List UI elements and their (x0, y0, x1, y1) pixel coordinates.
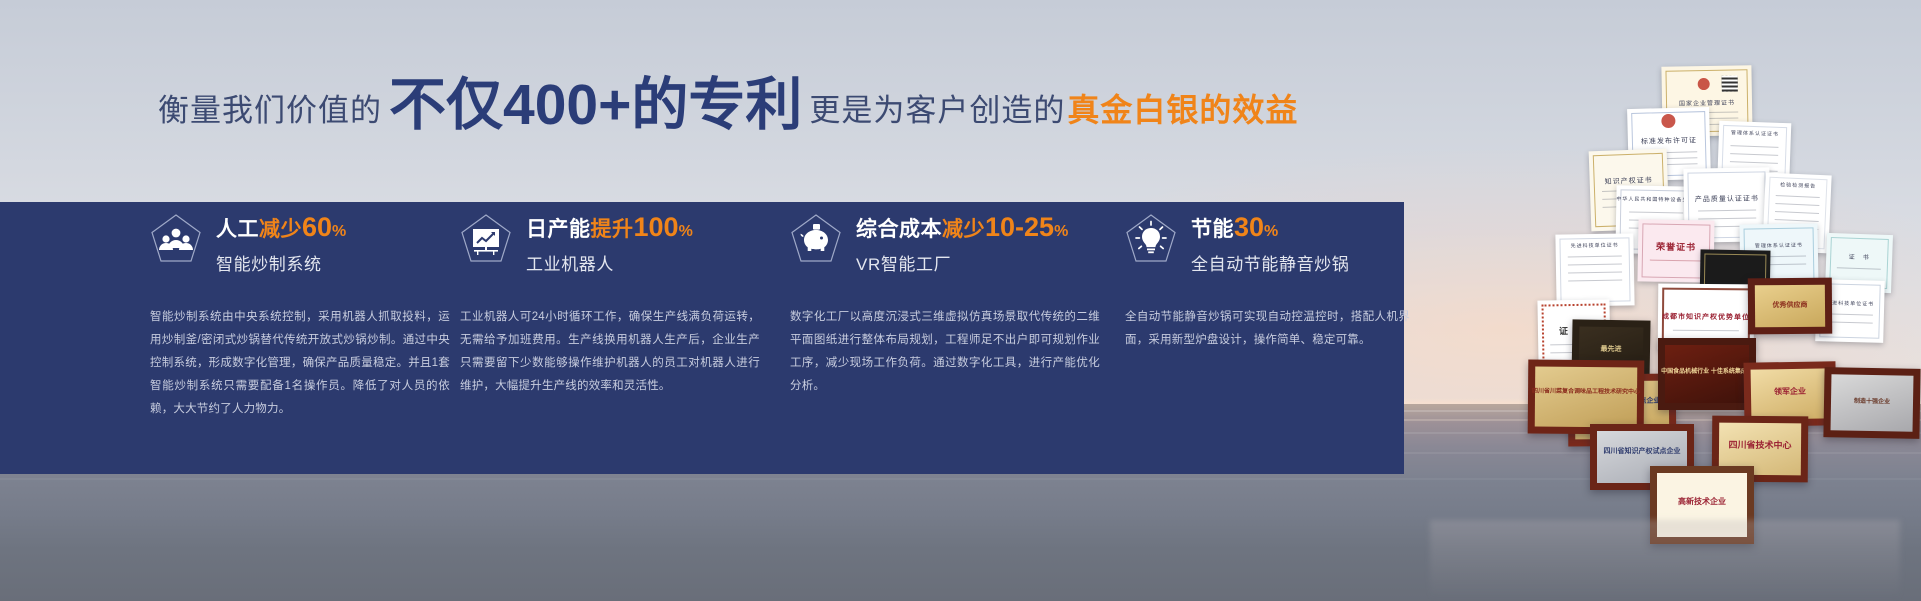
feature-title-accent: 减少 (259, 218, 302, 241)
feature-title-label: 节能 (1191, 218, 1234, 241)
feature-title-label: 日产能 (526, 218, 591, 241)
award-plaque-title: 四川省川菜复合调味品工程技术研究中心 (1528, 385, 1644, 395)
award-plaque: 优秀供应商 (1748, 278, 1832, 335)
headline-highlight: 真金白银的效益 (1067, 85, 1298, 131)
feature-title: 人工减少60% (216, 212, 346, 243)
award-plaque-title: 中国食品机械行业 十佳系统集成商 (1658, 366, 1756, 375)
award-plaque-title: 四川省技术中心 (1712, 438, 1808, 452)
feature-title-label: 人工 (216, 218, 259, 241)
certificate-title: 成都市知识产权优势单位 (1658, 312, 1754, 323)
feature-number: 100 (634, 212, 679, 242)
piggy-bank-icon (790, 213, 842, 265)
feature-subtitle: 工业机器人 (526, 250, 693, 275)
chart-board-icon (460, 213, 512, 265)
feature-subtitle: 智能炒制系统 (216, 250, 346, 275)
feature-percent: % (332, 223, 346, 240)
headline-middle: 更是为客户创造的 (809, 85, 1065, 130)
feature-body-text: 数字化工厂以高度沉浸式三维虚拟仿真场景取代传统的二维平面图纸进行整体布局规划，工… (790, 306, 1100, 398)
feature-percent: % (1054, 223, 1068, 240)
award-plaque-title: 优秀供应商 (1748, 300, 1832, 311)
feature-subtitle: 全自动节能静音炒锅 (1191, 250, 1349, 275)
feature-number: 30 (1234, 212, 1264, 242)
certificate-award-pile: 国家企业管理证书 标准发布许可证 管理体系认证证书 知识产权证书 中华人民共和国… (1400, 38, 1921, 601)
certificate-title: 管理体系认证证书 (1740, 241, 1818, 249)
headline-emphasis: 不仅400+的专利 (389, 77, 802, 134)
team-people-icon (150, 213, 202, 265)
headline: 衡量我们价值的 不仅400+的专利 更是为客户创造的 真金白银的效益 (158, 74, 1298, 136)
certificate-title: 产品质量认证证书 (1684, 193, 1770, 204)
feature-number: 60 (302, 212, 332, 242)
feature-body-text: 工业机器人可24小时循环工作，确保生产线满负荷运转，无需给予加班费用。生产线换用… (460, 306, 760, 398)
feature-number: 10-25 (985, 212, 1054, 242)
feature-item-labor: 人工减少60% 智能炒制系统 智能炒制系统由中央系统控制，采用机器人抓取投料，运… (150, 202, 450, 421)
feature-title-accent: 提升 (591, 218, 634, 241)
certificate-title: 先进科技单位证书 (1556, 241, 1634, 249)
feature-percent: % (1264, 223, 1278, 240)
headline-prefix: 衡量我们价值的 (158, 85, 382, 130)
feature-subtitle: VR智能工厂 (856, 250, 1068, 275)
feature-body-text: 智能炒制系统由中央系统控制，采用机器人抓取投料，运用炒制釜/密闭式炒锅替代传统开… (150, 306, 450, 421)
banner-root: 衡量我们价值的 不仅400+的专利 更是为客户创造的 真金白银的效益 (0, 0, 1921, 601)
award-plaque-title: 制造十强企业 (1824, 395, 1920, 406)
feature-body-text: 全自动节能静音炒锅可实现自动控温控时，搭配人机界面，采用新型炉盘设计，操作简单、… (1125, 306, 1410, 352)
award-plaque-title: 四川省知识产权试点企业 (1590, 446, 1694, 456)
lightbulb-icon (1125, 213, 1177, 265)
feature-title-label: 综合成本 (856, 218, 942, 241)
certificate-item: 先进科技单位证书 (1555, 233, 1634, 306)
feature-item-energy: 节能30% 全自动节能静音炒锅 全自动节能静音炒锅可实现自动控温控时，搭配人机界… (1125, 202, 1405, 352)
feature-percent: % (679, 223, 693, 240)
feature-panel: 人工减少60% 智能炒制系统 智能炒制系统由中央系统控制，采用机器人抓取投料，运… (0, 202, 1404, 474)
award-plaque-title: 最先进 (1572, 343, 1650, 354)
feature-title-accent: 减少 (942, 218, 985, 241)
feature-item-capacity: 日产能提升100% 工业机器人 工业机器人可24小时循环工作，确保生产线满负荷运… (460, 202, 760, 398)
award-plaque: 中国食品机械行业 十佳系统集成商 (1658, 338, 1756, 410)
feature-title: 综合成本减少10-25% (856, 212, 1068, 243)
feature-item-cost: 综合成本减少10-25% VR智能工厂 数字化工厂以高度沉浸式三维虚拟仿真场景取… (790, 202, 1100, 398)
award-plaque-title: 高新技术企业 (1650, 496, 1754, 507)
award-plaque: 制造十强企业 (1823, 367, 1920, 439)
feature-title: 日产能提升100% (526, 212, 693, 243)
feature-title: 节能30% (1191, 212, 1349, 243)
award-plaque-title: 领军企业 (1744, 385, 1836, 398)
pile-reflection (1430, 520, 1900, 600)
